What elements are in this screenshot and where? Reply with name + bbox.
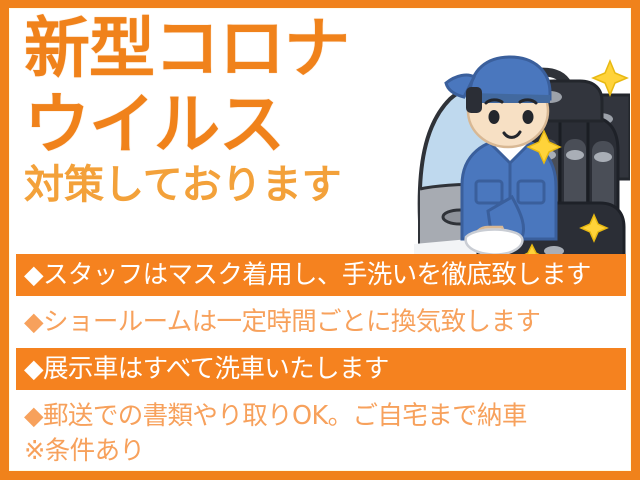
measures-list: ◆スタッフはマスク着用し、手洗いを徹底致します ◆ショールームは一定時間ごとに換… [16,254,626,471]
headline-subtitle: 対策しております [24,159,474,211]
list-item: ◆ショールームは一定時間ごとに換気致します [16,301,626,343]
measure-text-1: ◆スタッフはマスク着用し、手洗いを徹底致します [24,257,626,293]
diamond-bullet-icon: ◆ [24,260,43,290]
diamond-bullet-icon: ◆ [24,354,43,384]
banner-card: 新型コロナ ウイルス 対策しております ◆スタッフはマスク着用し、手洗いを徹底致… [9,8,631,471]
headline-line-2: ウイルス [24,87,474,163]
measure-text-4: ◆郵送での書類やり取りOK。ご自宅まで納車 [24,398,626,434]
measure-text-3: ◆展示車はすべて洗車いたします [24,351,626,387]
measure-note-4: ※条件あり [24,434,626,468]
list-item: ◆展示車はすべて洗車いたします [16,348,626,390]
diamond-bullet-icon: ◆ [24,307,43,337]
measure-text-2: ◆ショールームは一定時間ごとに換気致します [24,304,626,340]
covid-countermeasure-banner: 新型コロナ ウイルス 対策しております ◆スタッフはマスク着用し、手洗いを徹底致… [0,0,640,480]
page-title: 新型コロナ ウイルス 対策しております [24,11,474,211]
list-item: ◆スタッフはマスク着用し、手洗いを徹底致します [16,254,626,296]
headline-line-1: 新型コロナ [24,11,474,87]
diamond-bullet-icon: ◆ [24,401,43,431]
list-item: ◆郵送での書類やり取りOK。ご自宅まで納車 ※条件あり [16,395,626,471]
